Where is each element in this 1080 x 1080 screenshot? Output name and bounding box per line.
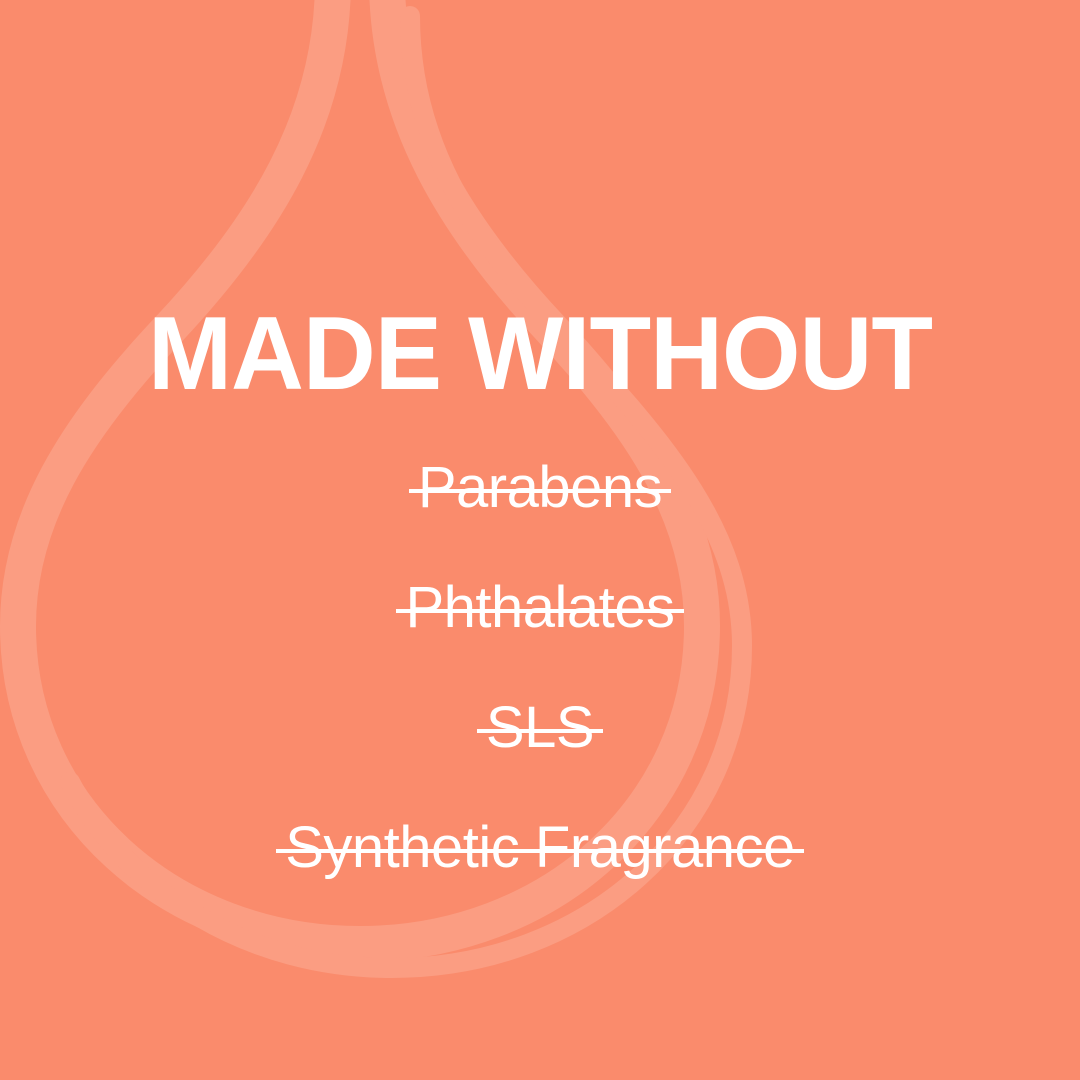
excluded-ingredient-label: Synthetic Fragrance	[276, 816, 804, 880]
page-title: MADE WITHOUT	[16, 302, 1064, 406]
excluded-ingredient-label: Phthalates	[396, 576, 683, 640]
list-item: Phthalates	[0, 548, 1080, 668]
list-item: Parabens	[0, 428, 1080, 548]
excluded-ingredient-label: Parabens	[409, 456, 671, 520]
excluded-ingredient-label: SLS	[477, 696, 603, 760]
list-item: Synthetic Fragrance	[0, 788, 1080, 908]
poster-content: MADE WITHOUT Parabens Phthalates SLS Syn…	[0, 0, 1080, 1080]
excluded-ingredients-list: Parabens Phthalates SLS Synthetic Fragra…	[0, 428, 1080, 908]
made-without-poster: MADE WITHOUT Parabens Phthalates SLS Syn…	[0, 0, 1080, 1080]
list-item: SLS	[0, 668, 1080, 788]
